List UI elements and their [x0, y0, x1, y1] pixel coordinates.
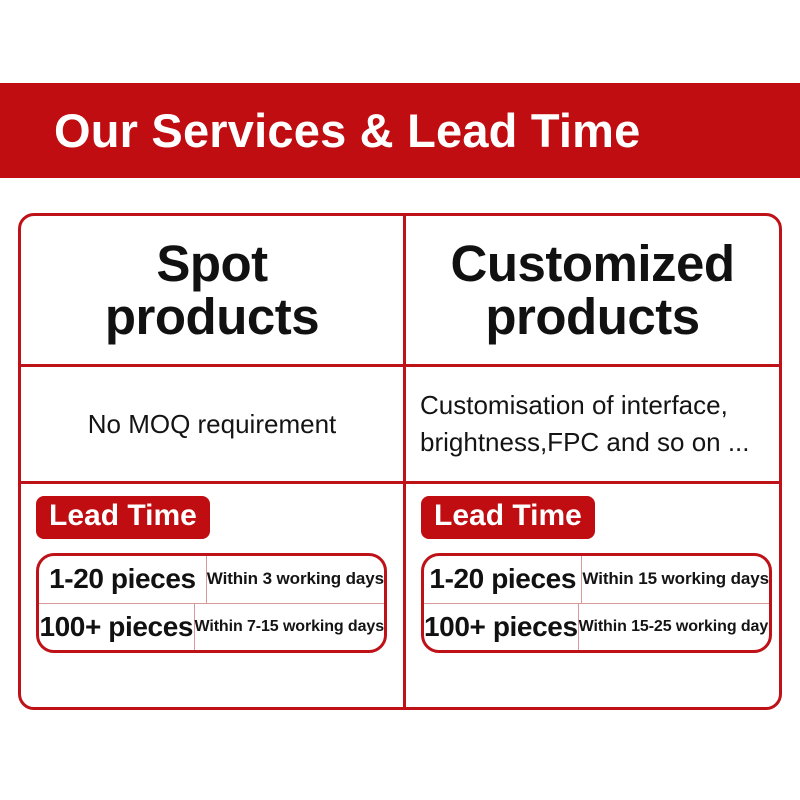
table-row: 1-20 pieces Within 3 working days — [39, 556, 384, 603]
description-customized-text: Customisation of interface, brightness,F… — [420, 387, 750, 461]
services-table: Spot products Customized products No MOQ… — [18, 213, 782, 710]
lead-qty-spot-1: 1-20 pieces — [39, 556, 207, 603]
header-spot-line1: Spot — [105, 237, 319, 290]
description-cell-customized: Customisation of interface, brightness,F… — [403, 367, 779, 481]
table-header-row: Spot products Customized products — [21, 216, 779, 364]
description-spot-text: No MOQ requirement — [88, 406, 337, 443]
lead-days-spot-2: Within 7-15 working days — [195, 604, 385, 650]
header-cell-spot: Spot products — [21, 216, 403, 364]
table-lead-time-row: Lead Time 1-20 pieces Within 3 working d… — [21, 484, 779, 707]
lead-qty-spot-2: 100+ pieces — [39, 604, 195, 650]
header-customized-line2: products — [450, 290, 734, 343]
lead-time-badge-customized: Lead Time — [421, 496, 595, 539]
page-title: Our Services & Lead Time — [54, 107, 640, 154]
description-customized-line1: Customisation of interface, — [420, 387, 750, 424]
lead-time-cell-spot: Lead Time 1-20 pieces Within 3 working d… — [21, 484, 403, 707]
lead-days-customized-1: Within 15 working days — [582, 556, 769, 603]
lead-time-cell-customized: Lead Time 1-20 pieces Within 15 working … — [403, 484, 779, 707]
header-customized-line1: Customized — [450, 237, 734, 290]
lead-days-customized-2: Within 15-25 working days — [579, 604, 772, 650]
table-description-row: No MOQ requirement Customisation of inte… — [21, 364, 779, 484]
description-spot-line1: No MOQ requirement — [88, 406, 337, 443]
table-row: 1-20 pieces Within 15 working days — [424, 556, 769, 603]
header-spot-line2: products — [105, 290, 319, 343]
description-cell-spot: No MOQ requirement — [21, 367, 403, 481]
header-spot-text: Spot products — [105, 237, 319, 343]
lead-days-spot-1: Within 3 working days — [207, 556, 384, 603]
table-row: 100+ pieces Within 15-25 working days — [424, 603, 769, 650]
header-customized-text: Customized products — [450, 237, 734, 343]
header-cell-customized: Customized products — [403, 216, 779, 364]
lead-time-badge-spot: Lead Time — [36, 496, 210, 539]
table-row: 100+ pieces Within 7-15 working days — [39, 603, 384, 650]
lead-qty-customized-2: 100+ pieces — [424, 604, 579, 650]
lead-qty-customized-1: 1-20 pieces — [424, 556, 582, 603]
lead-time-table-spot: 1-20 pieces Within 3 working days 100+ p… — [36, 553, 387, 653]
description-customized-line2: brightness,FPC and so on ... — [420, 424, 750, 461]
lead-time-table-customized: 1-20 pieces Within 15 working days 100+ … — [421, 553, 772, 653]
page-banner: Our Services & Lead Time — [0, 83, 800, 178]
